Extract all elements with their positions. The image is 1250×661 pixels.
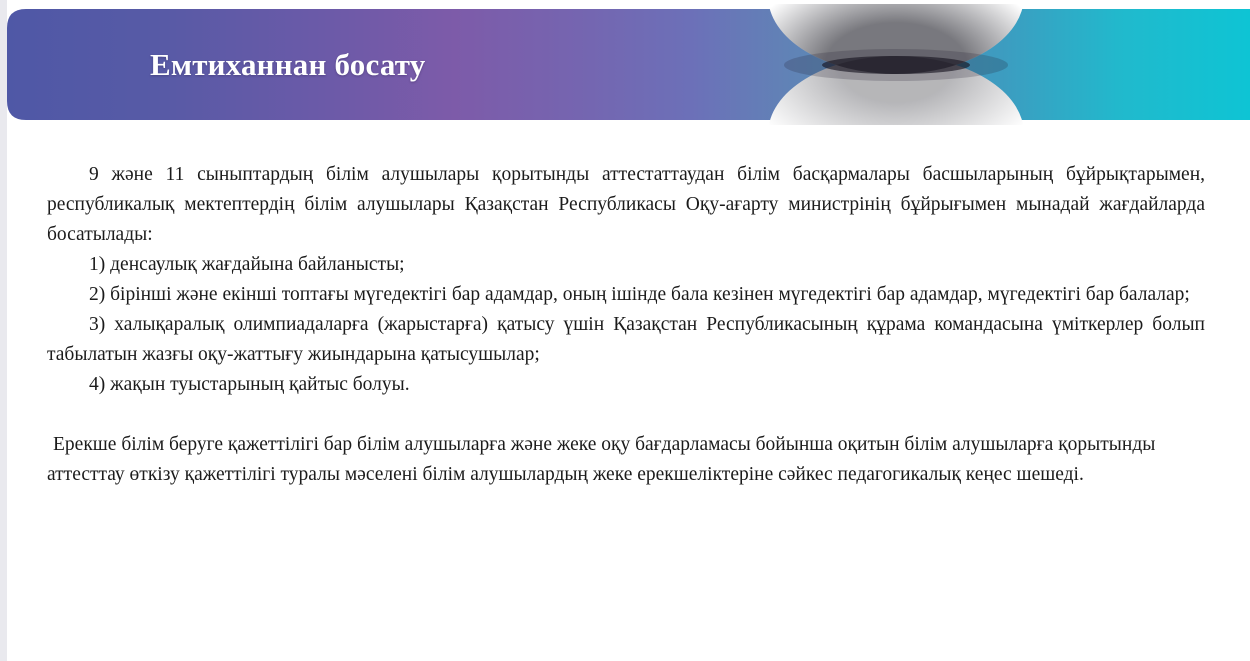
intro-paragraph: 9 және 11 сыныптардың білім алушылары қо… (47, 160, 1205, 250)
banner-waist-halo (784, 49, 1008, 81)
list-item: 2) бірінші және екінші топтағы мүгедекті… (47, 280, 1205, 310)
list-item: 4) жақын туыстарының қайтыс болуы. (47, 370, 1205, 400)
slide-root: Емтиханнан босату 9 және 11 сыныптардың … (0, 0, 1250, 661)
list-item: 1) денсаулық жағдайына байланысты; (47, 250, 1205, 280)
list-item: 3) халықаралық олимпиадаларға (жарыстарғ… (47, 310, 1205, 370)
page-title: Емтиханнан босату (150, 47, 425, 83)
paragraph-spacer (47, 400, 1205, 430)
slide-body: 9 және 11 сыныптардың білім алушылары қо… (47, 160, 1205, 490)
closing-paragraph: Ерекше білім беруге қажеттілігі бар білі… (47, 430, 1205, 490)
